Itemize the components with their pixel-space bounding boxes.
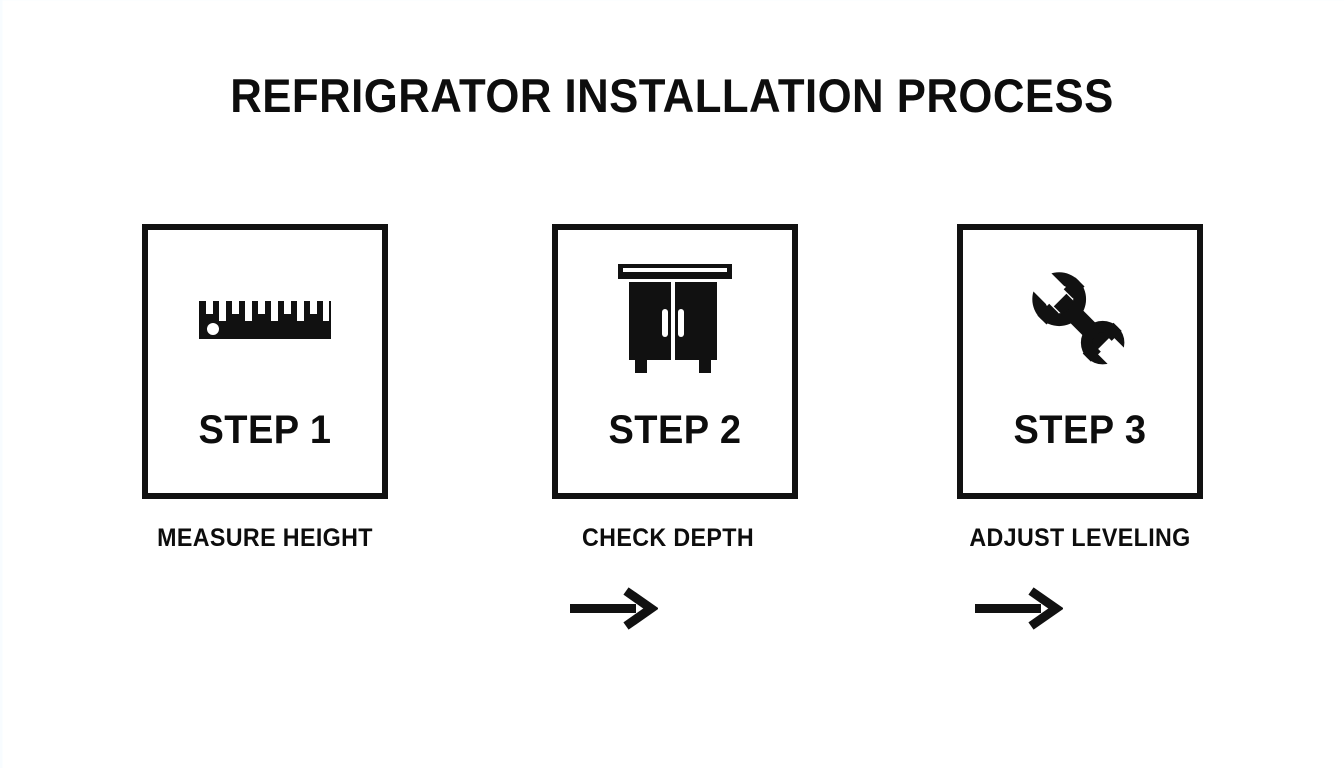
page-title: REFRIGRATOR INSTALLATION PROCESS	[47, 68, 1297, 123]
step-1-label: STEP 1	[154, 408, 376, 453]
step-1-icon-slot	[148, 230, 382, 415]
step-3-icon-slot	[963, 230, 1197, 415]
process-flow: STEP 1	[142, 224, 1196, 499]
step-card-2[interactable]: STEP 2	[552, 224, 798, 499]
step-3-caption: ADJUST LEVELING	[927, 524, 1234, 553]
step-card-3[interactable]: STEP 3	[957, 224, 1203, 499]
step-card-1[interactable]: STEP 1	[142, 224, 388, 499]
refrigerator-icon	[616, 264, 734, 381]
arrow-right-icon-1	[570, 586, 658, 632]
ruler-icon	[199, 297, 331, 348]
step-2-icon-slot	[558, 230, 792, 415]
step-2-caption: CHECK DEPTH	[515, 524, 822, 553]
arrow-right-icon-2	[975, 586, 1063, 632]
step-2-label: STEP 2	[564, 408, 786, 453]
infographic-page: REFRIGRATOR INSTALLATION PROCESS STEP 1	[0, 0, 1344, 768]
step-1-caption: MEASURE HEIGHT	[112, 524, 419, 553]
step-3-label: STEP 3	[969, 408, 1191, 453]
wrench-icon	[1016, 256, 1144, 389]
